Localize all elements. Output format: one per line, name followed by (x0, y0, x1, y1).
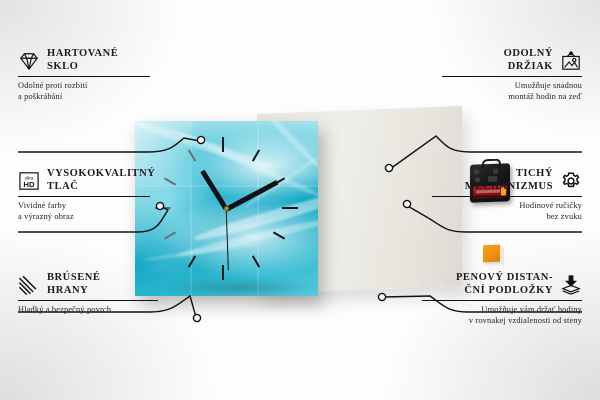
feature-desc-line1: Odolné proti rozbití (18, 81, 150, 91)
product-photo (135, 107, 465, 302)
feature-silent-mechanism: TICHÝ MECHANIZMUS Hodinové ručičky bez z… (432, 168, 582, 222)
feature-title-line1: VYSOKOKVALITNÝ (47, 168, 155, 181)
feature-title-line1: ODOLNÝ (504, 48, 553, 61)
feature-title-line2: ČNÍ PODLOŽKY (456, 285, 553, 298)
feature-title-line2: SKLO (47, 61, 118, 74)
feature-desc-line1: Hodinové ručičky (432, 201, 582, 211)
gear-icon (560, 171, 582, 191)
bevelled-edges-icon (18, 275, 40, 295)
feature-bevelled-edges: BRÚSENÉ HRANY Hladký a bezpečný povrch (18, 272, 158, 316)
feature-durable-hanger: ODOLNÝ DRŽIAK Umožňuje snadnou montáž ho… (442, 48, 582, 102)
divider (422, 300, 582, 301)
svg-text:HD: HD (23, 179, 35, 188)
feature-desc-line2: a výrazný obraz (18, 212, 150, 222)
ultra-hd-icon: ultra HD (18, 171, 40, 191)
feature-foam-spacers: PENOVÝ DISTAN- ČNÍ PODLOŽKY Umožňuje vám… (422, 272, 582, 326)
feature-desc-line2: a poškrábání (18, 92, 150, 102)
feature-title-line1: HARTOVANÉ (47, 48, 118, 61)
wall-hanger-icon (560, 51, 582, 71)
clock-pivot (224, 206, 229, 211)
feature-title-line2: HRANY (47, 285, 100, 298)
feature-title-line2: DRŽIAK (504, 61, 553, 74)
feature-title-line2: TLAČ (47, 181, 155, 194)
feature-title-line1: TICHÝ (465, 168, 553, 181)
glass-clock-face (135, 121, 318, 296)
feature-title-line1: BRÚSENÉ (47, 272, 100, 285)
foam-spacer-icon (560, 275, 582, 295)
divider (442, 76, 582, 77)
feature-high-quality-print: ultra HD VYSOKOKVALITNÝ TLAČ Vividné far… (18, 168, 150, 222)
feature-tempered-glass: HARTOVANÉ SKLO Odolné proti rozbití a po… (18, 48, 150, 102)
infographic-stage: HARTOVANÉ SKLO Odolné proti rozbití a po… (0, 0, 600, 400)
feature-desc-line1: Hladký a bezpečný povrch (18, 305, 158, 315)
feature-title-line2: MECHANIZMUS (465, 181, 553, 194)
divider (18, 300, 158, 301)
feature-desc-line2: v rovnakej vzdialenosti od steny (422, 316, 582, 326)
product-shadow (127, 275, 357, 301)
feature-desc-line1: Umožňuje snadnou (442, 81, 582, 91)
divider (432, 196, 582, 197)
feature-desc-line2: bez zvuku (432, 212, 582, 222)
hour-hand (200, 170, 228, 211)
foam-spacer-pad (483, 245, 500, 263)
feature-desc-line1: Umožňuje vám držať hodiny (422, 305, 582, 315)
feature-desc-line2: montáž hodin na zeď (442, 92, 582, 102)
divider (18, 76, 150, 77)
diamond-icon (18, 51, 40, 71)
feature-title-line1: PENOVÝ DISTAN- (456, 272, 553, 285)
divider (18, 196, 150, 197)
hanger-loop-icon (482, 159, 501, 169)
feature-desc-line1: Vividné farby (18, 201, 150, 211)
